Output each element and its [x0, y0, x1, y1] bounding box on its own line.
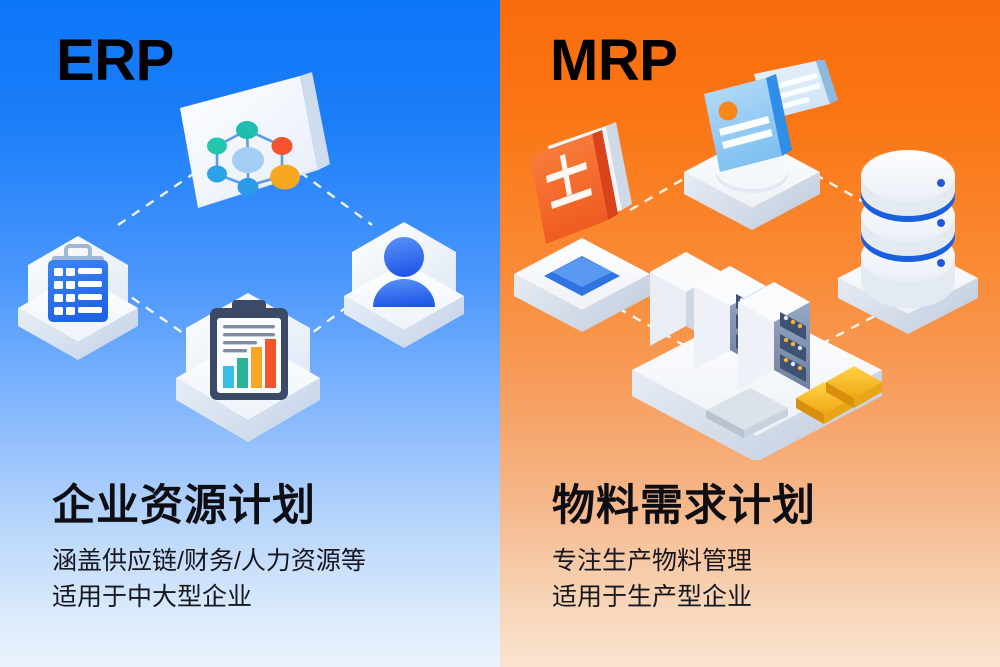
monitor-card-icon — [684, 60, 838, 230]
mrp-subline-2: 适用于生产型企业 — [552, 579, 816, 615]
panel-erp-title: ERP — [56, 32, 174, 90]
comparison-infographic: ERP — [0, 0, 1000, 667]
mrp-headline: 物料需求计划 — [552, 483, 816, 529]
spreadsheet-icon — [18, 236, 138, 360]
database-stack-icon — [838, 150, 978, 334]
panel-mrp-title: MRP — [550, 32, 677, 90]
panel-erp: ERP — [0, 0, 500, 667]
panel-mrp: MRP — [500, 0, 1000, 667]
network-graph-icon — [180, 72, 330, 208]
erp-text-block: 企业资源计划 涵盖供应链/财务/人力资源等 适用于中大型企业 — [52, 483, 366, 615]
erp-subline-1: 涵盖供应链/财务/人力资源等 — [52, 543, 366, 579]
mrp-illustration — [500, 60, 1000, 460]
user-profile-icon — [344, 222, 464, 348]
mrp-subline-1: 专注生产物料管理 — [552, 543, 816, 579]
clipboard-chart-icon — [176, 293, 320, 442]
erp-subline-2: 适用于中大型企业 — [52, 579, 366, 615]
erp-illustration — [0, 60, 500, 460]
order-book-icon — [514, 122, 650, 332]
erp-headline: 企业资源计划 — [52, 483, 366, 529]
mrp-text-block: 物料需求计划 专注生产物料管理 适用于生产型企业 — [552, 483, 816, 615]
